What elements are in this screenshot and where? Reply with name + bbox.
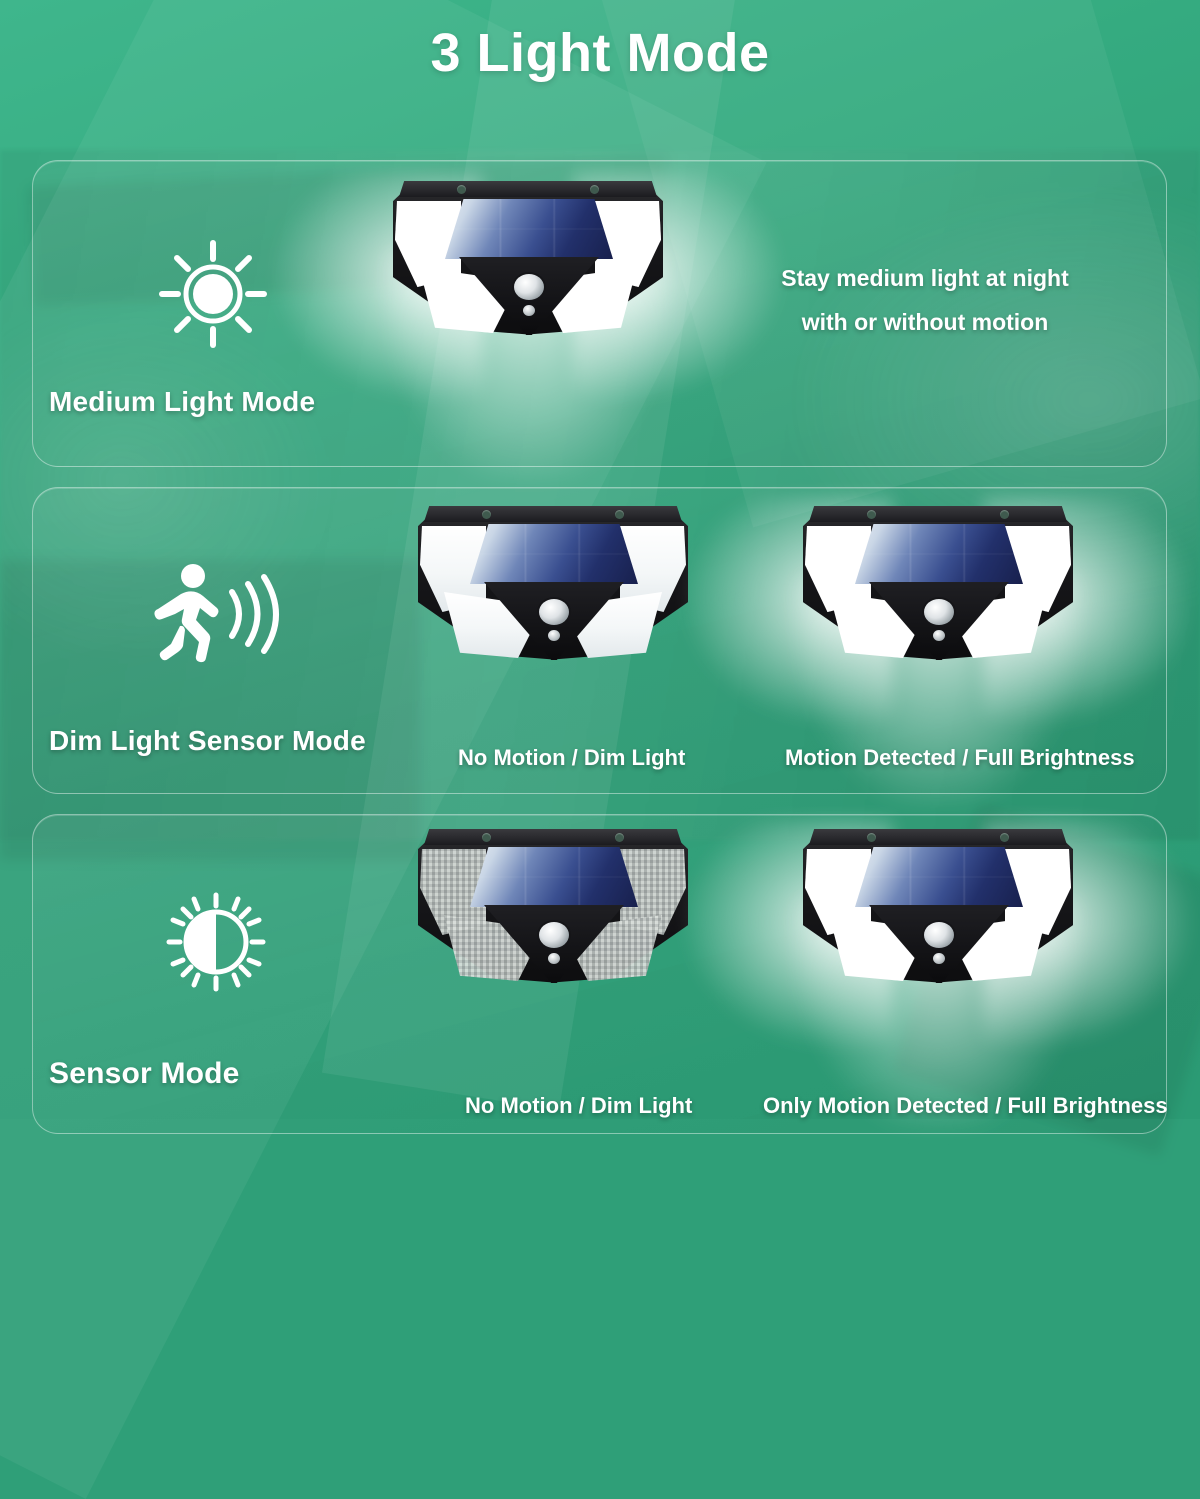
light-sensor-icon — [523, 305, 535, 316]
mode-label-medium-light: Medium Light Mode — [49, 386, 409, 418]
motion-sensor-icon — [539, 599, 569, 625]
motion-sensor-icon — [924, 599, 954, 625]
lamp-no-motion-dim — [418, 506, 688, 661]
mode-label-column: Dim Light Sensor Mode — [33, 488, 413, 793]
lamp-sensor-motion-detected — [803, 829, 1073, 984]
sun-icon — [158, 239, 268, 349]
motion-sensor-icon — [539, 922, 569, 948]
lamp-top-bar — [424, 506, 682, 522]
screw-left-icon — [867, 833, 876, 842]
lamp-top-bar — [399, 181, 657, 197]
screw-left-icon — [482, 510, 491, 519]
lamp-caption-sensor-motion-detected: Only Motion Detected / Full Brightness — [763, 1093, 1168, 1119]
description-line-2: with or without motion — [710, 301, 1140, 345]
mode-description-medium-light: Stay medium light at night with or witho… — [710, 257, 1140, 344]
motion-sensor-icon — [924, 922, 954, 948]
page-title: 3 Light Mode — [0, 22, 1200, 84]
mode-label-dim-light-sensor: Dim Light Sensor Mode — [49, 725, 409, 757]
solar-panel — [855, 524, 1023, 584]
mode-panel-medium-light: Medium Light Mode Stay medium light at n… — [32, 160, 1167, 467]
solar-panel — [470, 847, 638, 907]
lamp-medium-light — [393, 181, 663, 336]
solar-panel — [470, 524, 638, 584]
screw-right-icon — [1000, 510, 1009, 519]
brightness-half-icon — [161, 887, 271, 997]
mode-label-column: Sensor Mode — [33, 815, 413, 1133]
light-sensor-icon — [548, 953, 560, 964]
lamp-top-bar — [809, 506, 1067, 522]
screw-right-icon — [615, 510, 624, 519]
screw-right-icon — [1000, 833, 1009, 842]
description-line-1: Stay medium light at night — [710, 257, 1140, 301]
light-sensor-icon — [548, 630, 560, 641]
lamp-caption-motion-detected-full: Motion Detected / Full Brightness — [785, 745, 1135, 771]
solar-panel — [855, 847, 1023, 907]
light-sensor-icon — [933, 630, 945, 641]
screw-left-icon — [867, 510, 876, 519]
motion-person-icon — [151, 556, 281, 666]
solar-panel — [445, 199, 613, 259]
lamp-top-bar — [424, 829, 682, 845]
lamp-top-bar — [809, 829, 1067, 845]
mode-panel-sensor: Sensor Mode — [32, 814, 1167, 1134]
motion-sensor-icon — [514, 274, 544, 300]
light-sensor-icon — [933, 953, 945, 964]
screw-right-icon — [590, 185, 599, 194]
screw-right-icon — [615, 833, 624, 842]
mode-label-column: Medium Light Mode — [33, 161, 413, 466]
lamp-caption-no-motion-dim: No Motion / Dim Light — [458, 745, 685, 771]
mode-panel-dim-light-sensor: Dim Light Sensor Mode — [32, 487, 1167, 794]
mode-label-sensor: Sensor Mode — [49, 1057, 409, 1091]
screw-left-icon — [457, 185, 466, 194]
screw-left-icon — [482, 833, 491, 842]
lamp-caption-sensor-no-motion: No Motion / Dim Light — [465, 1093, 692, 1119]
lamp-sensor-no-motion — [418, 829, 688, 984]
lamp-motion-detected-full — [803, 506, 1073, 661]
